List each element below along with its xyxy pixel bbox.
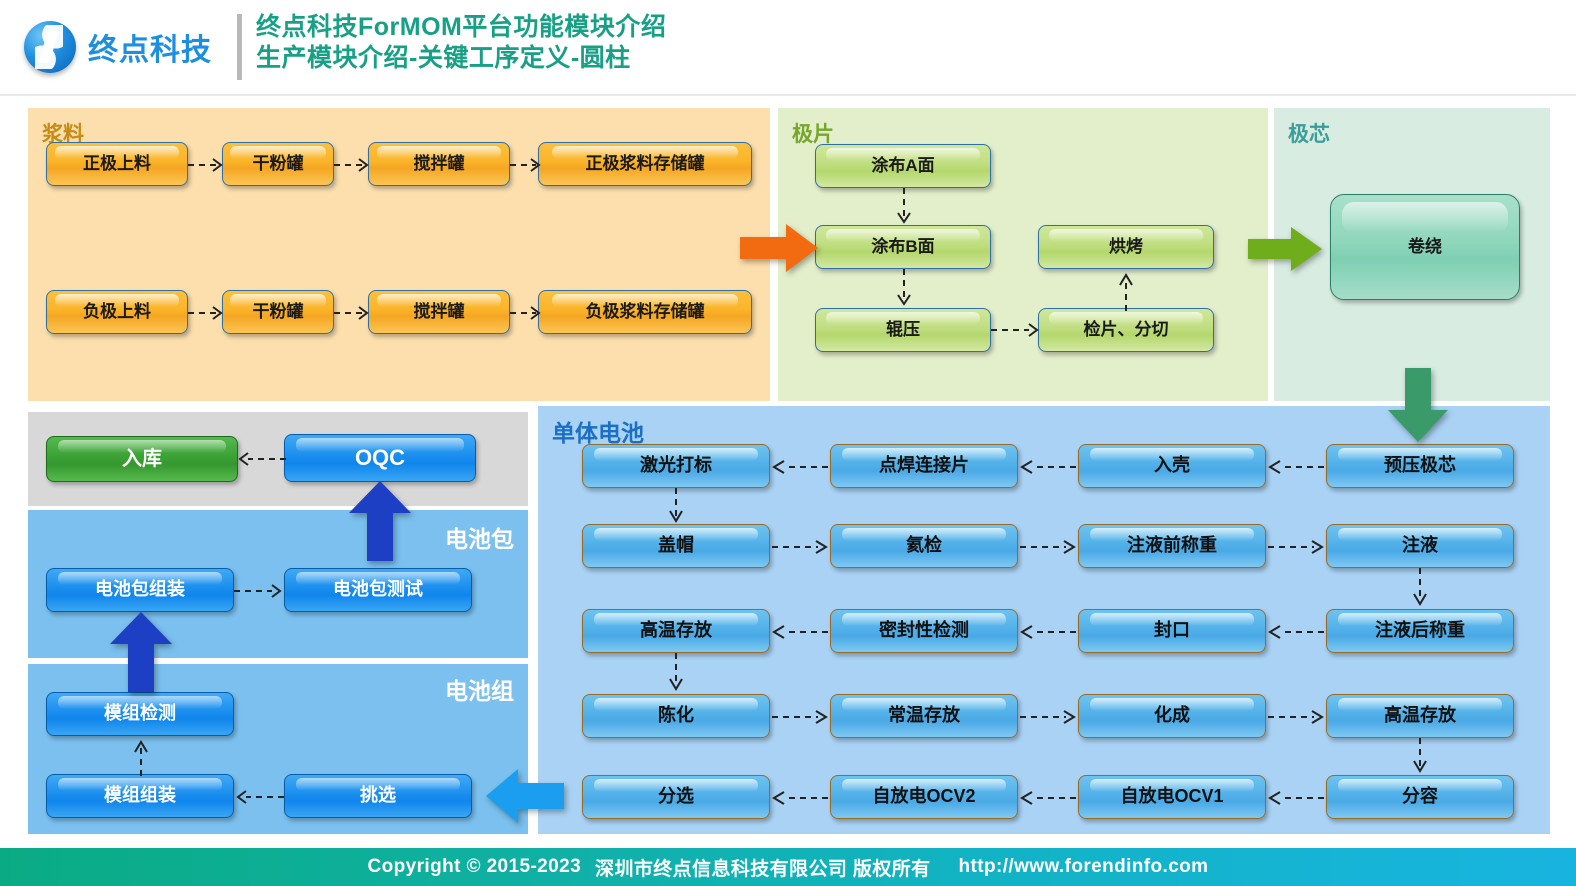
company-logo: 终点科技	[22, 10, 222, 84]
step-cell-high-temp-storage-2[interactable]: 高温存放	[1326, 694, 1514, 738]
step-slurry-anode-storage-tank[interactable]: 负极浆料存储罐	[538, 290, 752, 334]
step-label: 模组组装	[104, 786, 176, 806]
step-label: 化成	[1154, 706, 1190, 726]
page-footer: Copyright © 2015-2023 深圳市终点信息科技有限公司 版权所有…	[0, 848, 1576, 886]
step-label: 自放电OCV1	[1120, 787, 1223, 807]
orange-right-arrow-icon	[740, 224, 818, 272]
step-electrode-coating-side-b[interactable]: 涂布B面	[815, 225, 991, 269]
step-label: 正极上料	[83, 155, 151, 174]
green-right-arrow-icon	[1248, 227, 1322, 271]
lightblue-left-arrow-icon	[486, 769, 564, 823]
step-slurry-dry-powder-tank-1[interactable]: 干粉罐	[222, 142, 334, 186]
footer-company: 深圳市终点信息科技有限公司 版权所有	[595, 854, 930, 881]
step-electrode-rolling[interactable]: 辊压	[815, 308, 991, 352]
step-label: 模组检测	[104, 704, 176, 724]
step-oqc[interactable]: OQC	[284, 434, 476, 482]
step-cell-helium-test[interactable]: 氦检	[830, 524, 1018, 568]
step-label: 激光打标	[640, 456, 712, 476]
step-label: 盖帽	[658, 536, 694, 556]
step-cell-insert-shell[interactable]: 入壳	[1078, 444, 1266, 488]
step-label: 注液	[1402, 536, 1438, 556]
diagram-canvas: 浆料 正极上料 干粉罐 搅拌罐 正极浆料存储罐 负极上料 干粉罐 搅拌罐 负极浆…	[0, 96, 1576, 846]
step-label: 负极上料	[83, 303, 151, 322]
logo-text: 终点科技	[88, 25, 212, 69]
step-label: 注液后称重	[1375, 621, 1465, 641]
step-label: 陈化	[658, 706, 694, 726]
step-label: 氦检	[906, 536, 942, 556]
step-label: 封口	[1154, 621, 1190, 641]
step-cell-weigh-after-fill[interactable]: 注液后称重	[1326, 609, 1514, 653]
step-slurry-cathode-storage-tank[interactable]: 正极浆料存储罐	[538, 142, 752, 186]
step-jellyroll-winding[interactable]: 卷绕	[1330, 194, 1520, 300]
step-cell-prepress-jellyroll[interactable]: 预压极芯	[1326, 444, 1514, 488]
step-label: 高温存放	[640, 621, 712, 641]
step-slurry-dry-powder-tank-2[interactable]: 干粉罐	[222, 290, 334, 334]
title-divider	[237, 14, 242, 80]
step-label: 涂布B面	[871, 238, 934, 257]
step-label: 点焊连接片	[879, 456, 969, 476]
step-cell-high-temp-storage-1[interactable]: 高温存放	[582, 609, 770, 653]
step-module-inspection[interactable]: 模组检测	[46, 692, 234, 736]
step-label: 电池包组装	[95, 580, 185, 600]
step-electrode-coating-side-a[interactable]: 涂布A面	[815, 144, 991, 188]
step-label: 电池包测试	[333, 580, 423, 600]
step-cell-capacity-grading[interactable]: 分容	[1326, 775, 1514, 819]
step-cell-weigh-before-fill[interactable]: 注液前称重	[1078, 524, 1266, 568]
step-label: 干粉罐	[253, 303, 304, 322]
step-cell-cap[interactable]: 盖帽	[582, 524, 770, 568]
step-cell-sorting[interactable]: 分选	[582, 775, 770, 819]
step-cell-self-discharge-ocv2[interactable]: 自放电OCV2	[830, 775, 1018, 819]
step-label: 涂布A面	[871, 157, 934, 176]
footer-copyright: Copyright © 2015-2023	[368, 856, 582, 878]
darkblue-up-arrow-icon-module	[110, 612, 172, 692]
step-cell-self-discharge-ocv1[interactable]: 自放电OCV1	[1078, 775, 1266, 819]
step-label: 预压极芯	[1384, 456, 1456, 476]
step-label: 自放电OCV2	[872, 787, 975, 807]
step-electrode-baking[interactable]: 烘烤	[1038, 225, 1214, 269]
step-pack-assembly[interactable]: 电池包组装	[46, 568, 234, 612]
step-module-sorting[interactable]: 挑选	[284, 774, 472, 818]
step-cell-electrolyte-fill[interactable]: 注液	[1326, 524, 1514, 568]
step-label: OQC	[355, 446, 405, 470]
step-label: 负极浆料存储罐	[586, 303, 705, 322]
step-cell-room-temp-storage[interactable]: 常温存放	[830, 694, 1018, 738]
company-s-logo-icon	[22, 19, 78, 75]
panel-pack-title: 电池包	[445, 520, 514, 554]
step-label: 搅拌罐	[414, 303, 465, 322]
step-label: 挑选	[360, 786, 396, 806]
step-cell-seal-test[interactable]: 密封性检测	[830, 609, 1018, 653]
step-label: 分容	[1402, 787, 1438, 807]
step-label: 常温存放	[888, 706, 960, 726]
footer-url[interactable]: http://www.forendinfo.com	[959, 856, 1209, 878]
step-label: 辊压	[886, 321, 920, 340]
page-header: 终点科技 终点科技ForMOM平台功能模块介绍 生产模块介绍-关键工序定义-圆柱	[0, 0, 1576, 96]
panel-module-title: 电池组	[445, 672, 514, 706]
step-module-assembly[interactable]: 模组组装	[46, 774, 234, 818]
step-cell-spot-weld-tab[interactable]: 点焊连接片	[830, 444, 1018, 488]
step-label: 注液前称重	[1127, 536, 1217, 556]
darkgreen-down-arrow-icon	[1388, 368, 1448, 442]
step-label: 密封性检测	[879, 621, 969, 641]
step-cell-laser-marking[interactable]: 激光打标	[582, 444, 770, 488]
step-label: 入壳	[1154, 456, 1190, 476]
step-cell-formation[interactable]: 化成	[1078, 694, 1266, 738]
step-stock-in[interactable]: 入库	[46, 436, 238, 482]
step-label: 检片、分切	[1084, 321, 1169, 340]
step-pack-test[interactable]: 电池包测试	[284, 568, 472, 612]
step-cell-sealing[interactable]: 封口	[1078, 609, 1266, 653]
step-label: 正极浆料存储罐	[586, 155, 705, 174]
step-electrode-inspect-slit[interactable]: 检片、分切	[1038, 308, 1214, 352]
step-label: 搅拌罐	[414, 155, 465, 174]
step-label: 干粉罐	[253, 155, 304, 174]
step-label: 烘烤	[1109, 238, 1143, 257]
step-slurry-cathode-feed[interactable]: 正极上料	[46, 142, 188, 186]
panel-cell-title: 单体电池	[552, 414, 644, 448]
darkblue-up-arrow-icon-pack	[349, 481, 411, 561]
title-line-2: 生产模块介绍-关键工序定义-圆柱	[256, 43, 666, 74]
step-label: 卷绕	[1408, 238, 1442, 257]
title-line-1: 终点科技ForMOM平台功能模块介绍	[256, 12, 666, 43]
panel-jellyroll-title: 极芯	[1288, 118, 1330, 148]
step-label: 入库	[122, 448, 162, 470]
step-slurry-anode-feed[interactable]: 负极上料	[46, 290, 188, 334]
step-label: 高温存放	[1384, 706, 1456, 726]
step-slurry-mixing-tank-1[interactable]: 搅拌罐	[368, 142, 510, 186]
step-slurry-mixing-tank-2[interactable]: 搅拌罐	[368, 290, 510, 334]
step-label: 分选	[658, 787, 694, 807]
page-title: 终点科技ForMOM平台功能模块介绍 生产模块介绍-关键工序定义-圆柱	[256, 12, 666, 74]
step-cell-aging[interactable]: 陈化	[582, 694, 770, 738]
